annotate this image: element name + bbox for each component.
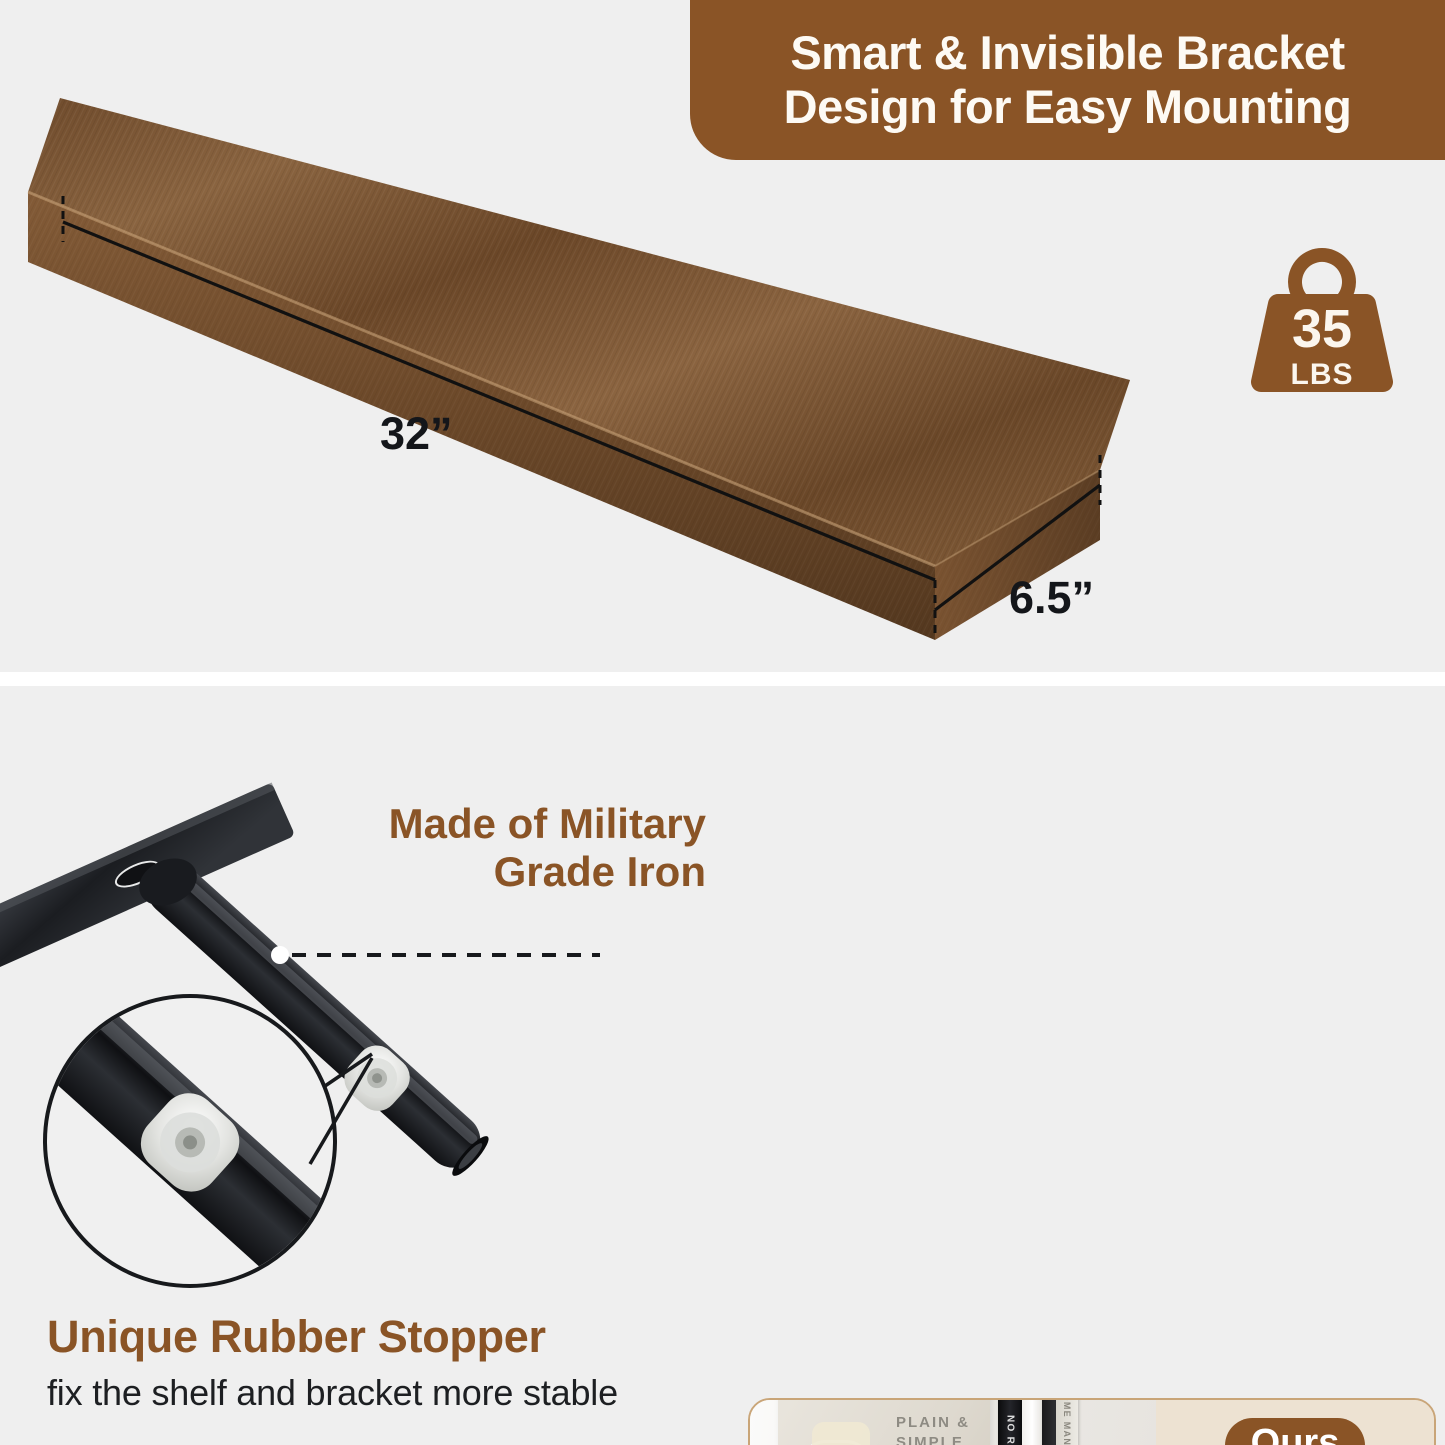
infographic-page: 32” 6.5” Smart & Invisible Bracket Desig… xyxy=(0,0,1445,1445)
ours-badge: Ours xyxy=(1225,1418,1366,1445)
length-dimension-label: 32” xyxy=(380,408,453,460)
depth-dimension-label: 6.5” xyxy=(1009,572,1094,624)
ours-info: Ours DEEPER & THICKER Create more storag… xyxy=(1156,1400,1434,1445)
book-spine-grey: HOME MANAGEMENT PLAIN & SIMPLE xyxy=(1056,1400,1078,1445)
book-cover-large: PLAIN & SIMPLE KIM BRENNEMAN xyxy=(778,1400,990,1445)
book-spine-dark xyxy=(1042,1400,1056,1445)
comparison-panel-ours: PLAIN & SIMPLE KIM BRENNEMAN NO REST FOR… xyxy=(748,1398,1436,1445)
bracket-illustration xyxy=(0,686,600,1326)
weight-value: 35 xyxy=(1242,302,1402,356)
weight-unit: LBS xyxy=(1242,360,1402,390)
book-title-line1: PLAIN & xyxy=(896,1414,970,1433)
military-grade-caption: Made of Military Grade Iron xyxy=(286,800,706,896)
rubber-stopper-subtitle: fix the shelf and bracket more stable xyxy=(47,1372,618,1414)
ours-photo: PLAIN & SIMPLE KIM BRENNEMAN NO REST FOR… xyxy=(750,1400,1156,1445)
book-title-line2: SIMPLE xyxy=(896,1434,964,1445)
book-spine-white xyxy=(1022,1400,1042,1445)
banner-line-2: Design for Easy Mounting xyxy=(784,80,1352,134)
banner-line-1: Smart & Invisible Bracket xyxy=(790,26,1344,80)
weight-capacity-badge: 35 LBS xyxy=(1242,242,1402,402)
rubber-stopper-title: Unique Rubber Stopper xyxy=(47,1311,546,1363)
top-section: 32” 6.5” Smart & Invisible Bracket Desig… xyxy=(0,0,1445,672)
header-banner: Smart & Invisible Bracket Design for Eas… xyxy=(690,0,1445,160)
book-spine-black: NO REST FOR THE WEARY xyxy=(998,1400,1022,1445)
